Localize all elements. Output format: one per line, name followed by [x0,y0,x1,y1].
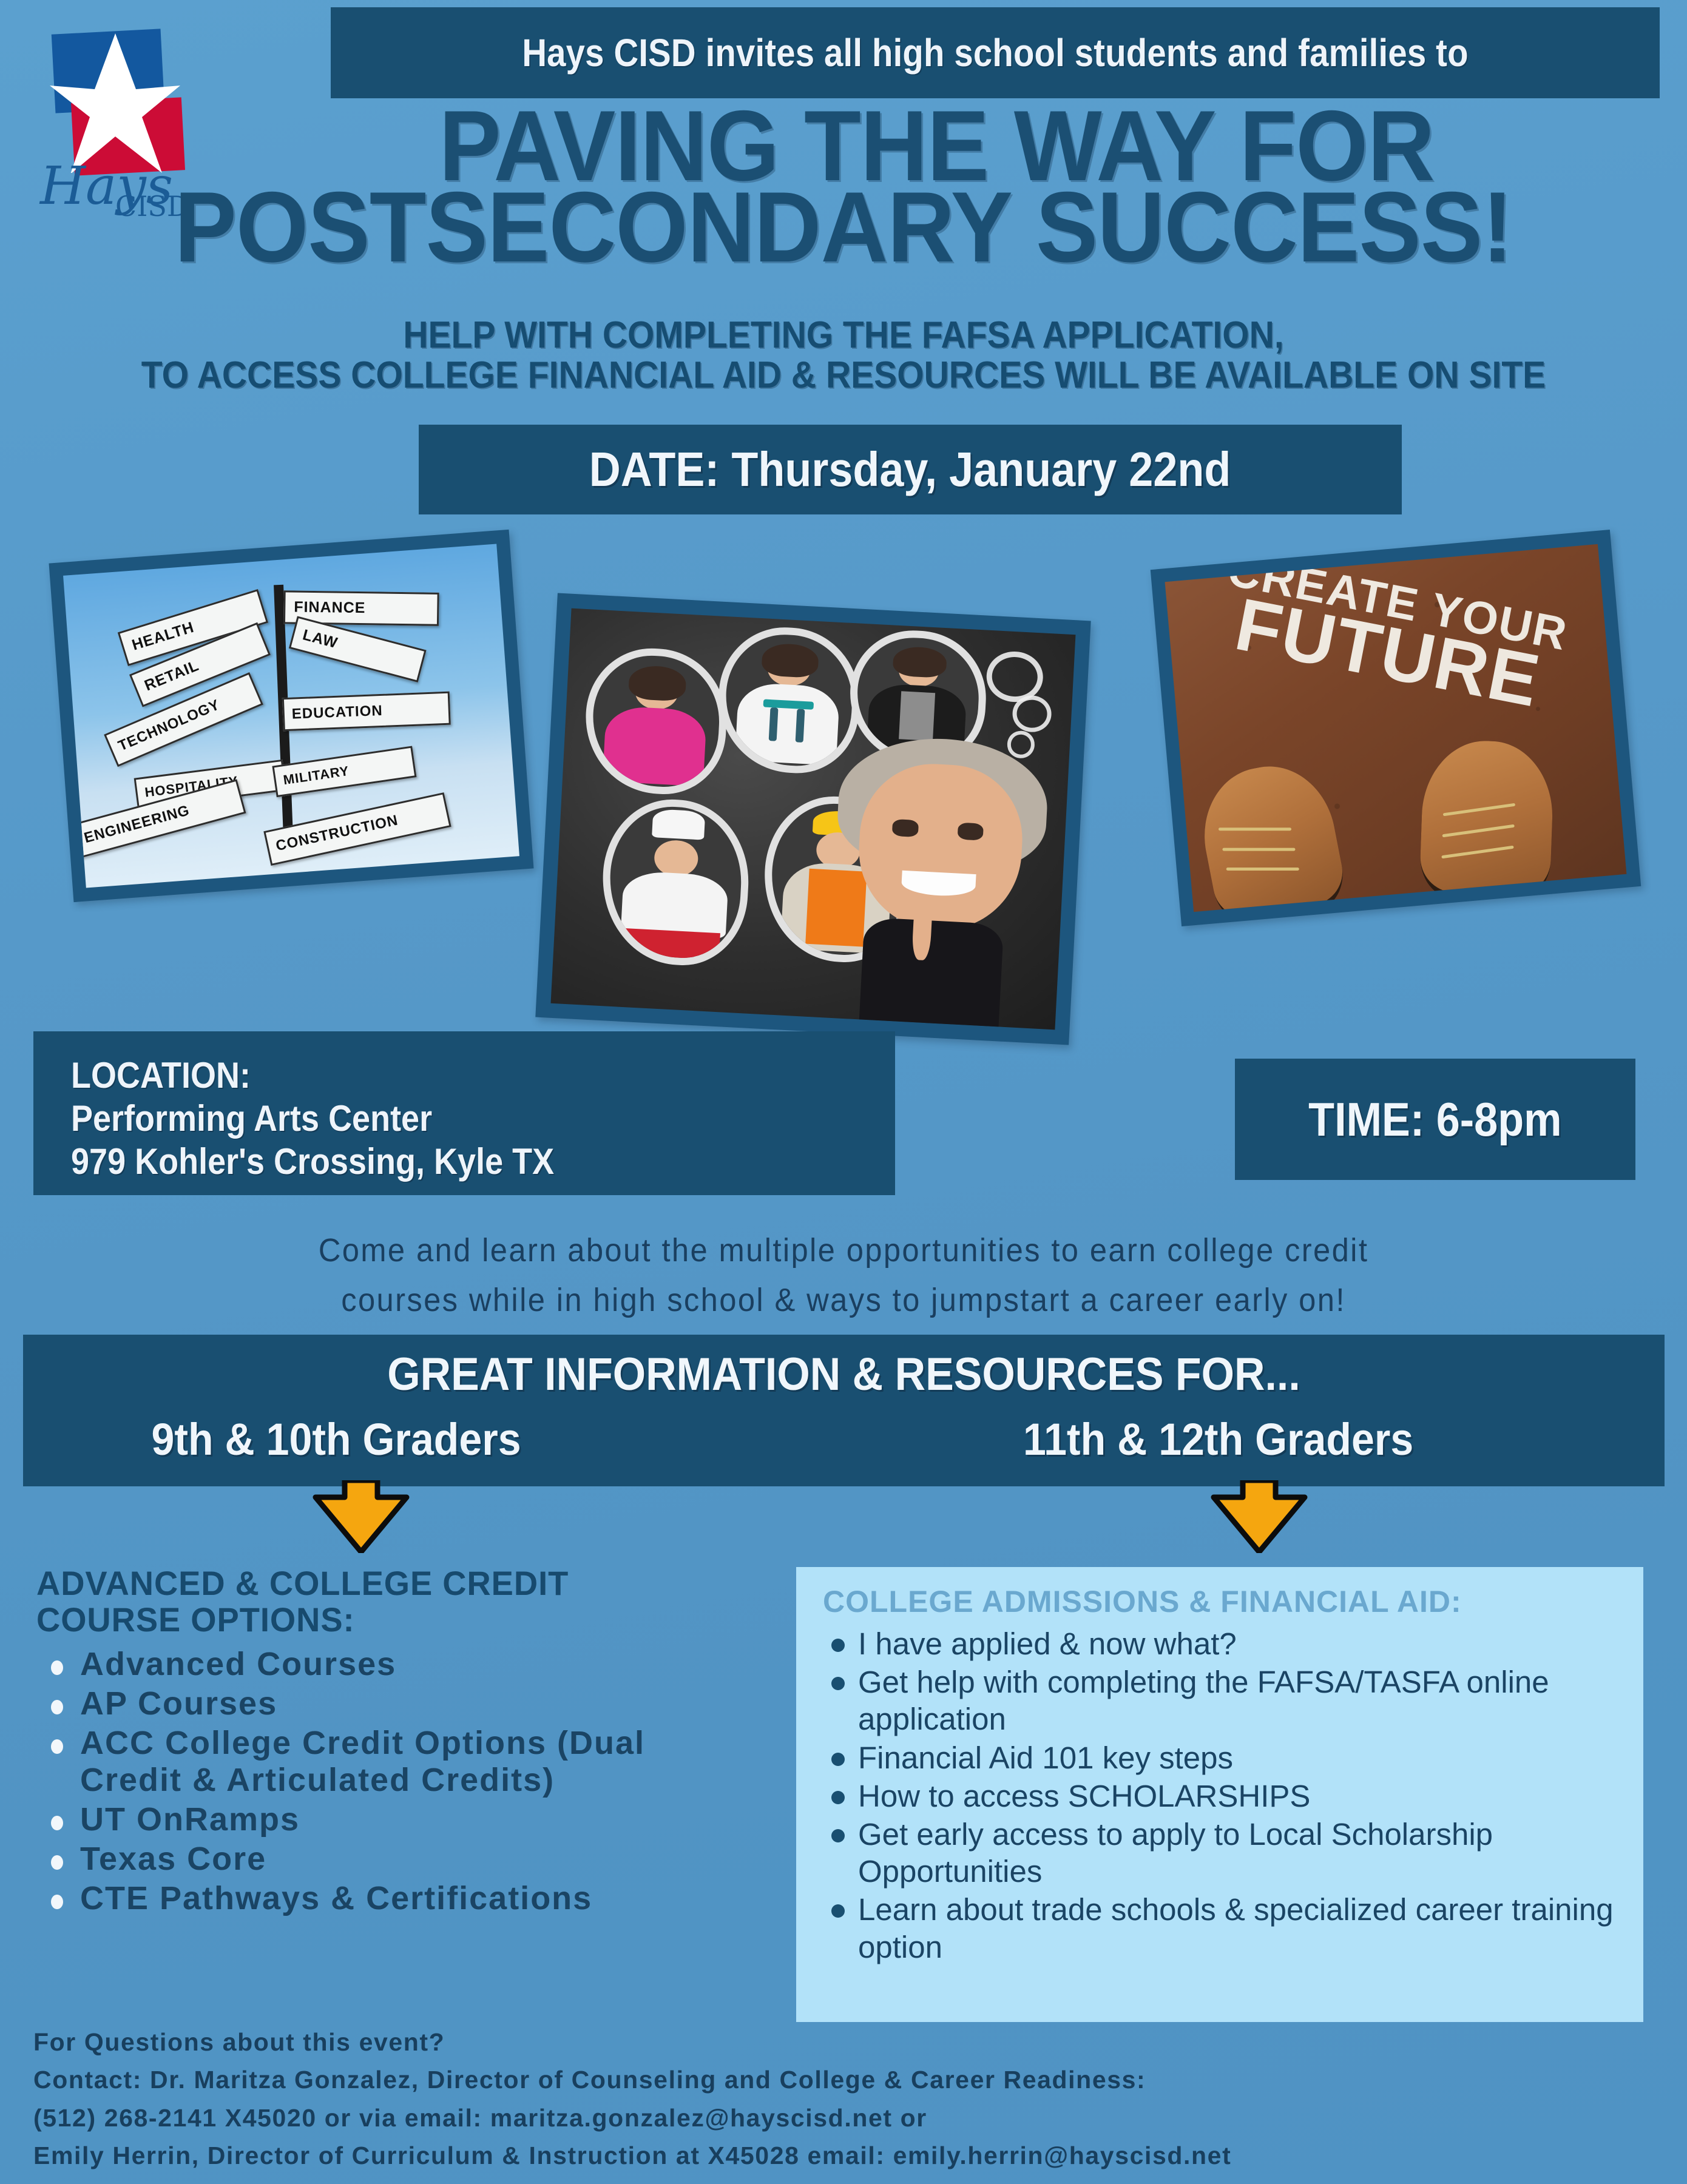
small-bubble-2 [1012,695,1052,733]
footer-line-4: Emily Herrin, Director of Curriculum & I… [33,2137,1672,2174]
invite-text: Hays CISD invites all high school studen… [522,30,1468,75]
list-item: I have applied & now what? [823,1625,1626,1662]
right-boot [1419,739,1555,902]
thought-bubble-nurse [582,645,730,797]
sign-military: MILITARY [272,746,417,798]
right-column-heading: COLLEGE ADMISSIONS & FINANCIAL AID: [796,1567,1643,1619]
small-bubble-1 [985,650,1044,703]
footer-line-2: Contact: Dr. Maritza Gonzalez, Director … [33,2061,1672,2098]
subtitle-line-2: TO ACCESS COLLEGE FINANCIAL AID & RESOUR… [67,356,1620,396]
left-column-heading: ADVANCED & COLLEGE CREDIT COURSE OPTIONS… [36,1565,731,1639]
left-column-list: Advanced Courses AP Courses ACC College … [36,1646,752,1917]
subtitle: HELP WITH COMPLETING THE FAFSA APPLICATI… [67,315,1620,395]
page-title: PAVING THE WAY FOR POSTSECONDARY SUCCESS… [0,100,1687,274]
location-label: LOCATION: [71,1054,554,1097]
list-item: AP Courses [36,1685,752,1722]
list-item: UT OnRamps [36,1801,752,1838]
future-photo-text: CREATE YOUR FUTURE [1165,544,1627,729]
left-column: ADVANCED & COLLEGE CREDIT COURSE OPTIONS… [36,1565,752,1919]
photo-create-your-future: CREATE YOUR FUTURE [1151,530,1641,926]
list-item: Advanced Courses [36,1646,752,1683]
left-boot [1192,755,1349,912]
list-item: Texas Core [36,1841,752,1878]
list-item: ACC College Credit Options (Dual Credit … [36,1725,752,1799]
title-line-2: POSTSECONDARY SUCCESS! [59,181,1628,274]
date-banner: DATE: Thursday, January 22nd [419,425,1402,514]
right-column-box: COLLEGE ADMISSIONS & FINANCIAL AID: I ha… [796,1567,1643,2022]
flyer-page: Hays CISD Hays CISD invites all high sch… [0,0,1687,2184]
subtitle-line-1: HELP WITH COMPLETING THE FAFSA APPLICATI… [67,315,1620,356]
grade-group-left: 9th & 10th Graders [151,1414,521,1465]
list-item: CTE Pathways & Certifications [36,1880,752,1917]
time-text: TIME: 6-8pm [1308,1092,1561,1147]
photo-career-dreams [535,593,1090,1045]
grade-group-right: 11th & 12th Graders [1023,1414,1413,1465]
come-line-2: courses while in high school & ways to j… [50,1275,1636,1325]
thinking-woman [813,733,1060,1030]
list-item: Learn about trade schools & specialized … [823,1891,1626,1965]
date-text: DATE: Thursday, January 22nd [589,442,1231,497]
come-line-1: Come and learn about the multiple opport… [50,1225,1636,1275]
location-line-1: Performing Arts Center [71,1097,554,1141]
great-information-band: GREAT INFORMATION & RESOURCES FOR... 9th… [23,1335,1665,1486]
left-heading-line-1: ADVANCED & COLLEGE CREDIT [36,1564,569,1602]
list-item: Get early access to apply to Local Schol… [823,1816,1626,1890]
location-line-2: 979 Kohler's Crossing, Kyle TX [71,1141,554,1184]
right-column-list: I have applied & now what? Get help with… [796,1625,1643,1966]
list-item: Financial Aid 101 key steps [823,1739,1626,1776]
left-heading-line-2: COURSE OPTIONS: [36,1600,355,1639]
list-item: Get help with completing the FAFSA/TASFA… [823,1663,1626,1737]
footer-line-3: (512) 268-2141 X45020 or via email: mari… [33,2099,1672,2137]
sign-law: LAW [289,616,427,682]
sign-education: EDUCATION [282,692,451,732]
list-item: How to access SCHOLARSHIPS [823,1778,1626,1815]
photo-career-signpost: HEALTH FINANCE RETAIL LAW TECHNOLOGY EDU… [49,530,534,902]
come-and-learn-text: Come and learn about the multiple opport… [50,1225,1636,1325]
band-title: GREAT INFORMATION & RESOURCES FOR... [89,1348,1599,1401]
footer-contact: For Questions about this event? Contact:… [33,2023,1672,2174]
location-box: LOCATION: Performing Arts Center 979 Koh… [33,1031,895,1195]
invite-banner: Hays CISD invites all high school studen… [331,7,1660,98]
arrow-down-icon-right [1208,1480,1311,1553]
arrow-down-icon-left [309,1480,413,1553]
time-box: TIME: 6-8pm [1235,1059,1635,1180]
footer-line-1: For Questions about this event? [33,2023,1672,2061]
thought-bubble-chef [598,797,752,969]
